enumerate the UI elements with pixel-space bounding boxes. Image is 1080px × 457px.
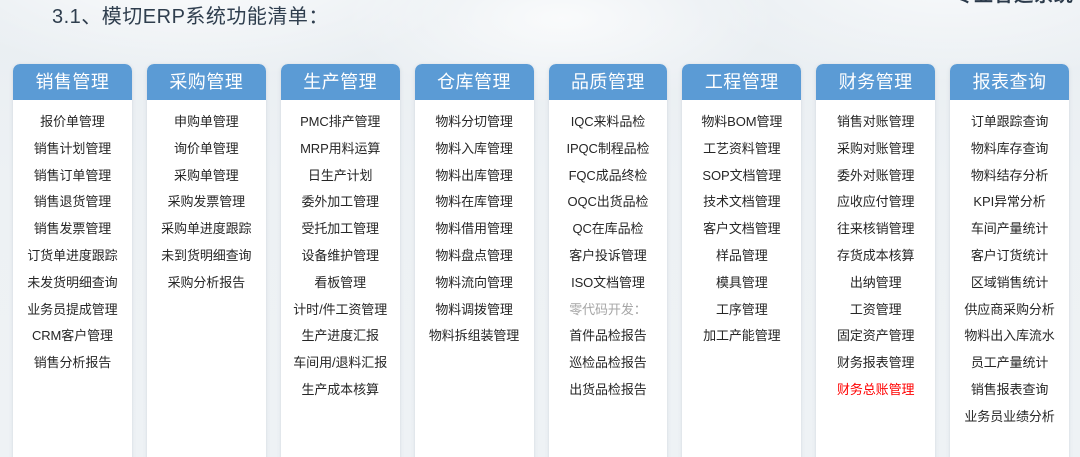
module-item[interactable]: 客户订货统计 [950,243,1069,270]
module-item-list: 物料分切管理物料入库管理物料出库管理物料在库管理物料借用管理物料盘点管理物料流向… [415,100,534,457]
module-item[interactable]: 物料盘点管理 [415,243,534,270]
module-item-list: 申购单管理询价单管理采购单管理采购发票管理采购单进度跟踪未到货明细查询采购分析报… [147,100,266,457]
module-column: 采购管理申购单管理询价单管理采购单管理采购发票管理采购单进度跟踪未到货明细查询采… [147,64,266,457]
module-item-list: 物料BOM管理工艺资料管理SOP文档管理技术文档管理客户文档管理样品管理模具管理… [682,100,801,457]
module-item[interactable]: IPQC制程品检 [549,136,668,163]
module-item[interactable]: MRP用料运算 [281,136,400,163]
module-item[interactable]: 业务员业绩分析 [950,404,1069,431]
module-column-header[interactable]: 工程管理 [682,64,801,100]
module-item[interactable]: 采购单管理 [147,163,266,190]
module-item[interactable]: ISO文档管理 [549,270,668,297]
module-item[interactable]: 未发货明细查询 [13,270,132,297]
module-item[interactable]: 物料入库管理 [415,136,534,163]
module-item[interactable]: 日生产计划 [281,163,400,190]
module-item[interactable]: 出纳管理 [816,270,935,297]
module-item[interactable]: 受托加工管理 [281,216,400,243]
module-item[interactable]: 客户投诉管理 [549,243,668,270]
module-item-list: 销售对账管理采购对账管理委外对账管理应收应付管理往来核销管理存货成本核算出纳管理… [816,100,935,457]
module-item[interactable]: 生产进度汇报 [281,323,400,350]
module-column-header[interactable]: 报表查询 [950,64,1069,100]
module-column: 生产管理PMC排产管理MRP用料运算日生产计划委外加工管理受托加工管理设备维护管… [281,64,400,457]
module-item[interactable]: 物料拆组装管理 [415,323,534,350]
module-column: 财务管理销售对账管理采购对账管理委外对账管理应收应付管理往来核销管理存货成本核算… [816,64,935,457]
module-item[interactable]: 销售对账管理 [816,109,935,136]
module-item[interactable]: QC在库品检 [549,216,668,243]
module-item[interactable]: 物料结存分析 [950,163,1069,190]
module-item[interactable]: 员工产量统计 [950,350,1069,377]
module-item[interactable]: 应收应付管理 [816,189,935,216]
corner-clipped-heading-text: 专业智造系统 [954,0,1074,6]
module-item[interactable]: OQC出货品检 [549,189,668,216]
module-item[interactable]: 技术文档管理 [682,189,801,216]
module-item[interactable]: 物料调拨管理 [415,297,534,324]
module-item[interactable]: 看板管理 [281,270,400,297]
module-item[interactable]: 物料库存查询 [950,136,1069,163]
module-column-header[interactable]: 采购管理 [147,64,266,100]
module-item[interactable]: 询价单管理 [147,136,266,163]
module-item[interactable]: 物料出入库流水 [950,323,1069,350]
module-item[interactable]: 委外对账管理 [816,163,935,190]
module-item[interactable]: 物料在库管理 [415,189,534,216]
module-item[interactable]: 未到货明细查询 [147,243,266,270]
module-item[interactable]: FQC成品终检 [549,163,668,190]
module-item[interactable]: 往来核销管理 [816,216,935,243]
module-item[interactable]: 计时/件工资管理 [281,297,400,324]
module-item[interactable]: 物料出库管理 [415,163,534,190]
module-item[interactable]: 物料借用管理 [415,216,534,243]
module-column: 品质管理IQC来料品检IPQC制程品检FQC成品终检OQC出货品检QC在库品检客… [549,64,668,457]
module-item[interactable]: CRM客户管理 [13,323,132,350]
module-item-group-label: 零代码开发： [549,297,668,324]
module-item[interactable]: 采购发票管理 [147,189,266,216]
module-item[interactable]: 销售发票管理 [13,216,132,243]
module-item[interactable]: 设备维护管理 [281,243,400,270]
module-item[interactable]: 财务报表管理 [816,350,935,377]
module-item[interactable]: 物料BOM管理 [682,109,801,136]
module-column: 仓库管理物料分切管理物料入库管理物料出库管理物料在库管理物料借用管理物料盘点管理… [415,64,534,457]
module-item[interactable]: PMC排产管理 [281,109,400,136]
module-item[interactable]: KPI异常分析 [950,189,1069,216]
module-item[interactable]: 出货品检报告 [549,377,668,404]
module-item[interactable]: 采购对账管理 [816,136,935,163]
module-column-header[interactable]: 财务管理 [816,64,935,100]
module-item[interactable]: 供应商采购分析 [950,297,1069,324]
module-item[interactable]: 采购分析报告 [147,270,266,297]
module-item[interactable]: 客户文档管理 [682,216,801,243]
module-item[interactable]: 销售订单管理 [13,163,132,190]
module-item[interactable]: 委外加工管理 [281,189,400,216]
module-item[interactable]: 订货单进度跟踪 [13,243,132,270]
module-item-list: 报价单管理销售计划管理销售订单管理销售退货管理销售发票管理订货单进度跟踪未发货明… [13,100,132,457]
module-column-header[interactable]: 品质管理 [549,64,668,100]
module-item[interactable]: IQC来料品检 [549,109,668,136]
module-item[interactable]: 巡检品检报告 [549,350,668,377]
module-item[interactable]: 销售退货管理 [13,189,132,216]
module-columns: 销售管理报价单管理销售计划管理销售订单管理销售退货管理销售发票管理订货单进度跟踪… [13,64,1069,457]
module-item[interactable]: SOP文档管理 [682,163,801,190]
module-item[interactable]: 采购单进度跟踪 [147,216,266,243]
module-column: 销售管理报价单管理销售计划管理销售订单管理销售退货管理销售发票管理订货单进度跟踪… [13,64,132,457]
module-item[interactable]: 工艺资料管理 [682,136,801,163]
module-item[interactable]: 区域销售统计 [950,270,1069,297]
module-item[interactable]: 销售计划管理 [13,136,132,163]
corner-clipped-heading: 专业智造系统 [844,0,1074,9]
module-column: 工程管理物料BOM管理工艺资料管理SOP文档管理技术文档管理客户文档管理样品管理… [682,64,801,457]
slide-canvas: 专业智造系统 3.1、模切ERP系统功能清单： 销售管理报价单管理销售计划管理销… [0,0,1080,457]
module-item[interactable]: 报价单管理 [13,109,132,136]
module-item-list: PMC排产管理MRP用料运算日生产计划委外加工管理受托加工管理设备维护管理看板管… [281,100,400,457]
module-item[interactable]: 固定资产管理 [816,323,935,350]
module-item[interactable]: 存货成本核算 [816,243,935,270]
module-column-header[interactable]: 销售管理 [13,64,132,100]
module-item[interactable]: 车间产量统计 [950,216,1069,243]
module-item[interactable]: 申购单管理 [147,109,266,136]
module-column: 报表查询订单跟踪查询物料库存查询物料结存分析KPI异常分析车间产量统计客户订货统… [950,64,1069,457]
module-item[interactable]: 生产成本核算 [281,377,400,404]
section-title: 3.1、模切ERP系统功能清单： [52,2,329,32]
module-item[interactable]: 业务员提成管理 [13,297,132,324]
module-item[interactable]: 销售报表查询 [950,377,1069,404]
module-item-list: IQC来料品检IPQC制程品检FQC成品终检OQC出货品检QC在库品检客户投诉管… [549,100,668,457]
module-item[interactable]: 首件品检报告 [549,323,668,350]
module-item[interactable]: 样品管理 [682,243,801,270]
module-item[interactable]: 物料分切管理 [415,109,534,136]
module-item-list: 订单跟踪查询物料库存查询物料结存分析KPI异常分析车间产量统计客户订货统计区域销… [950,100,1069,457]
module-item[interactable]: 物料流向管理 [415,270,534,297]
module-item[interactable]: 订单跟踪查询 [950,109,1069,136]
module-item[interactable]: 加工产能管理 [682,323,801,350]
module-item[interactable]: 销售分析报告 [13,350,132,377]
module-item[interactable]: 工资管理 [816,297,935,324]
module-item[interactable]: 车间用/退料汇报 [281,350,400,377]
module-item[interactable]: 模具管理 [682,270,801,297]
module-item[interactable]: 工序管理 [682,297,801,324]
module-column-header[interactable]: 生产管理 [281,64,400,100]
module-item[interactable]: 财务总账管理 [816,377,935,404]
module-column-header[interactable]: 仓库管理 [415,64,534,100]
